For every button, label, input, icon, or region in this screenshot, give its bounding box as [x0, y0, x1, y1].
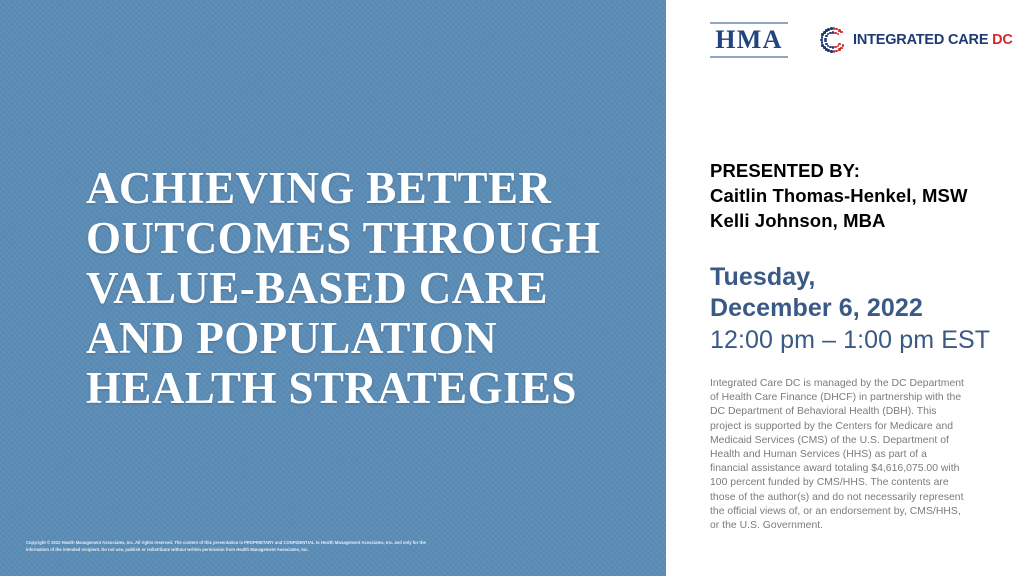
integrated-care-dc-wordmark: INTEGRATED CARE DC: [853, 33, 1013, 48]
info-panel: HMA INTEGRATED CARE DC PRESENTED BY: Cai…: [666, 0, 1024, 576]
presenter-name-1: Caitlin Thomas-Henkel, MSW: [710, 183, 1010, 208]
title-panel: ACHIEVING BETTER OUTCOMES THROUGH VALUE-…: [0, 0, 666, 576]
hma-bottom-rule: [710, 56, 788, 58]
funding-disclaimer: Integrated Care DC is managed by the DC …: [710, 377, 968, 533]
presented-by-heading: PRESENTED BY:: [710, 158, 1010, 183]
hma-top-rule: [710, 22, 788, 24]
copyright-notice: Copyright © 2022 Health Management Assoc…: [26, 540, 436, 553]
title-slide: ACHIEVING BETTER OUTCOMES THROUGH VALUE-…: [0, 0, 1024, 576]
dot-ring-icon: [818, 25, 848, 55]
event-date: December 6, 2022: [710, 293, 1020, 324]
integrated-care-dc-logo: INTEGRATED CARE DC: [818, 25, 1013, 55]
presented-by-block: PRESENTED BY: Caitlin Thomas-Henkel, MSW…: [710, 158, 1010, 233]
event-datetime-block: Tuesday, December 6, 2022 12:00 pm – 1:0…: [710, 262, 1020, 357]
integrated-care-dc-word-primary: INTEGRATED CARE: [853, 32, 988, 48]
hma-logo: HMA: [710, 22, 788, 58]
hma-wordmark: HMA: [710, 26, 788, 54]
event-day: Tuesday,: [710, 262, 1020, 293]
page-title: ACHIEVING BETTER OUTCOMES THROUGH VALUE-…: [86, 163, 616, 413]
presenter-name-2: Kelli Johnson, MBA: [710, 208, 1010, 233]
event-time: 12:00 pm – 1:00 pm EST: [710, 324, 1020, 357]
logo-bar: HMA INTEGRATED CARE DC: [710, 22, 1013, 58]
integrated-care-dc-word-accent: DC: [992, 32, 1013, 48]
